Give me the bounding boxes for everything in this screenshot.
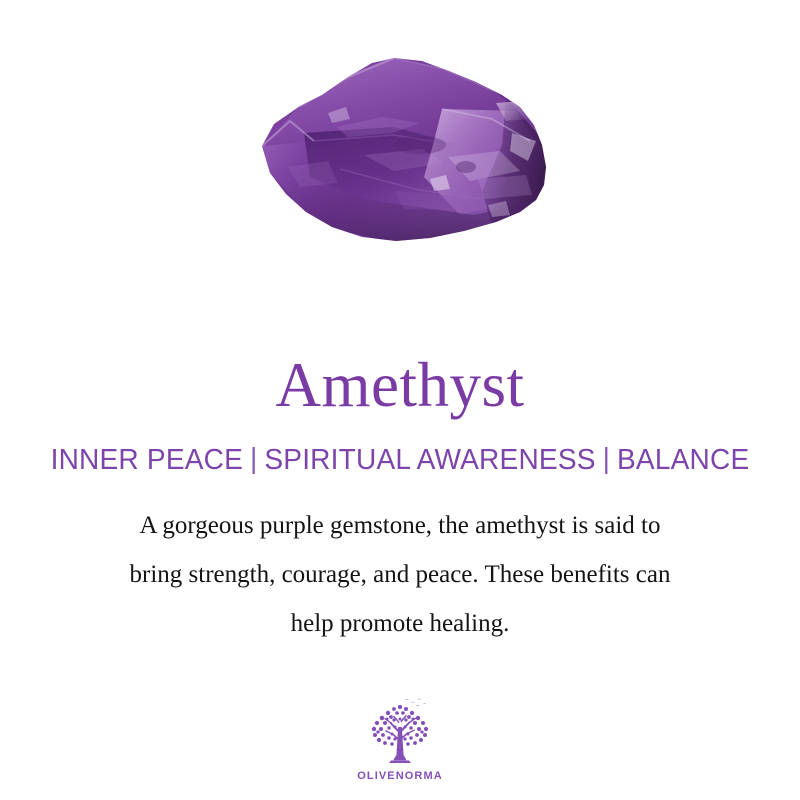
page-title: Amethyst [276,354,525,417]
tree-icon [361,697,439,769]
amethyst-info-card: Amethyst INNER PEACE | SPIRITUAL AWARENE… [0,0,800,800]
description-text: A gorgeous purple gemstone, the amethyst… [50,501,750,648]
brand-name: OLIVENORMA [357,770,443,782]
description-line: help promote healing. [50,599,750,648]
description-line: bring strength, courage, and peace. Thes… [50,550,750,599]
gemstone-hero [0,0,800,310]
keyword-separator: | [596,443,617,476]
keyword-balance: BALANCE [617,444,749,477]
brand-logo: OLIVENORMA [0,697,800,782]
keyword-separator: | [243,443,264,476]
amethyst-crystal-image [244,49,564,264]
amethyst-crystal-icon [244,49,564,264]
keyword-spiritual-awareness: SPIRITUAL AWARENESS [264,444,595,477]
description-line: A gorgeous purple gemstone, the amethyst… [50,501,750,550]
keyword-inner-peace: INNER PEACE [51,444,243,477]
keyword-strip: INNER PEACE | SPIRITUAL AWARENESS | BALA… [26,444,775,477]
